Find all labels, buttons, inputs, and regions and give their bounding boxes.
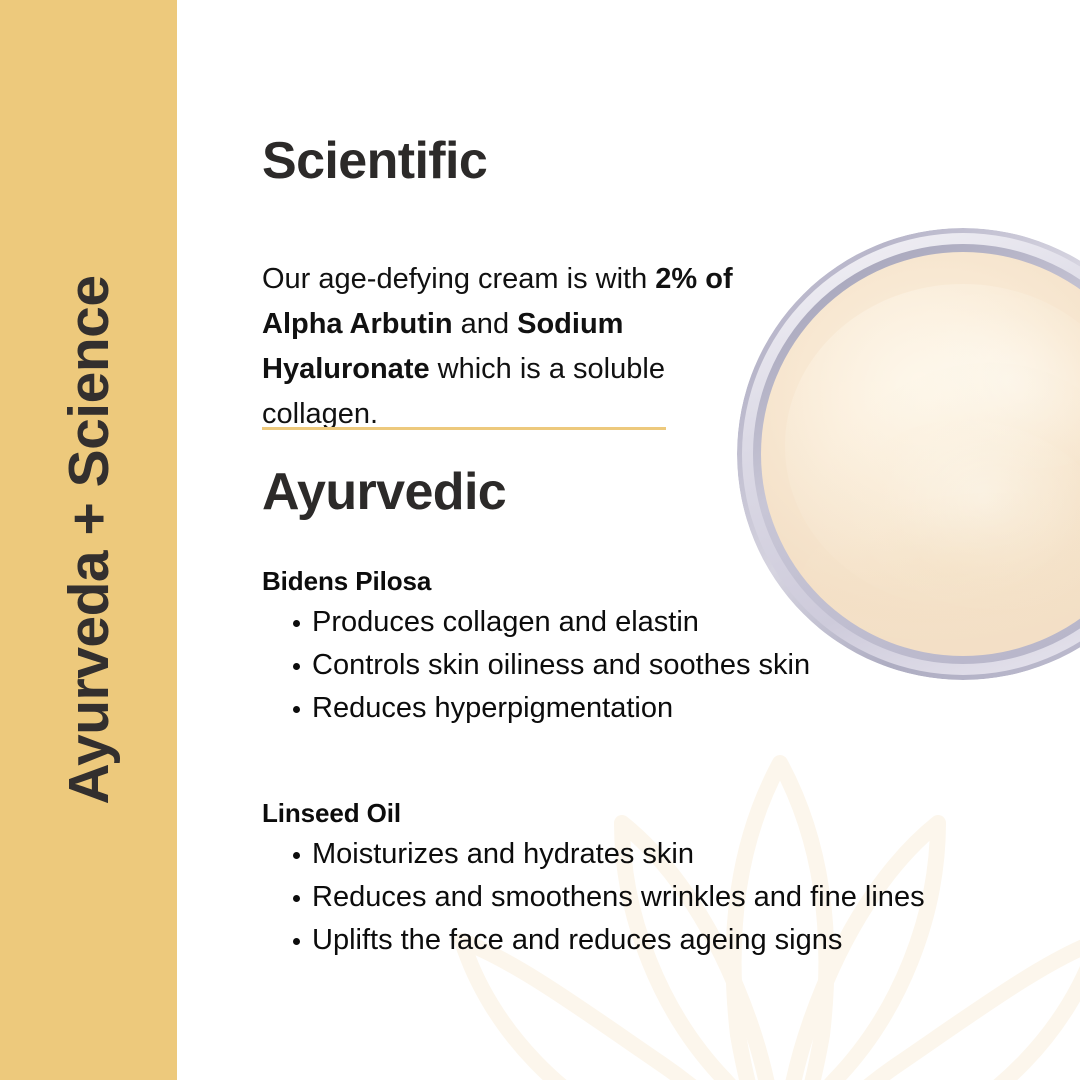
section-title-ayurvedic: Ayurvedic [262,462,506,522]
benefit-item: Uplifts the face and reduces ageing sign… [262,919,1052,962]
content-column: Scientific Our age-defying cream is with… [262,0,1052,1080]
benefit-item: Controls skin oiliness and soothes skin [262,644,1052,687]
benefit-item: Produces collagen and elastin [262,601,1052,644]
section-title-scientific: Scientific [262,131,487,191]
section-divider [262,427,666,430]
brand-sidebar: Ayurveda + Science [0,0,177,1080]
scientific-paragraph: Our age-defying cream is with 2% of Alph… [262,257,762,437]
benefit-list: Moisturizes and hydrates skin Reduces an… [262,833,1052,962]
benefit-item: Reduces hyperpigmentation [262,687,1052,730]
infographic-canvas: Ayurveda + Science Scientific Our age-de… [0,0,1080,1080]
ingredient-block: Bidens Pilosa Produces collagen and elas… [262,566,1052,730]
ingredient-name: Bidens Pilosa [262,566,1052,597]
benefit-item: Moisturizes and hydrates skin [262,833,1052,876]
benefit-list: Produces collagen and elastin Controls s… [262,601,1052,730]
paragraph-text-part-2: and [453,308,518,340]
ingredient-block: Linseed Oil Moisturizes and hydrates ski… [262,798,1052,962]
sidebar-vertical-label: Ayurveda + Science [56,275,122,804]
ingredient-name: Linseed Oil [262,798,1052,829]
paragraph-text-part-1: Our age-defying cream is with [262,263,655,295]
benefit-item: Reduces and smoothens wrinkles and fine … [262,876,1052,919]
